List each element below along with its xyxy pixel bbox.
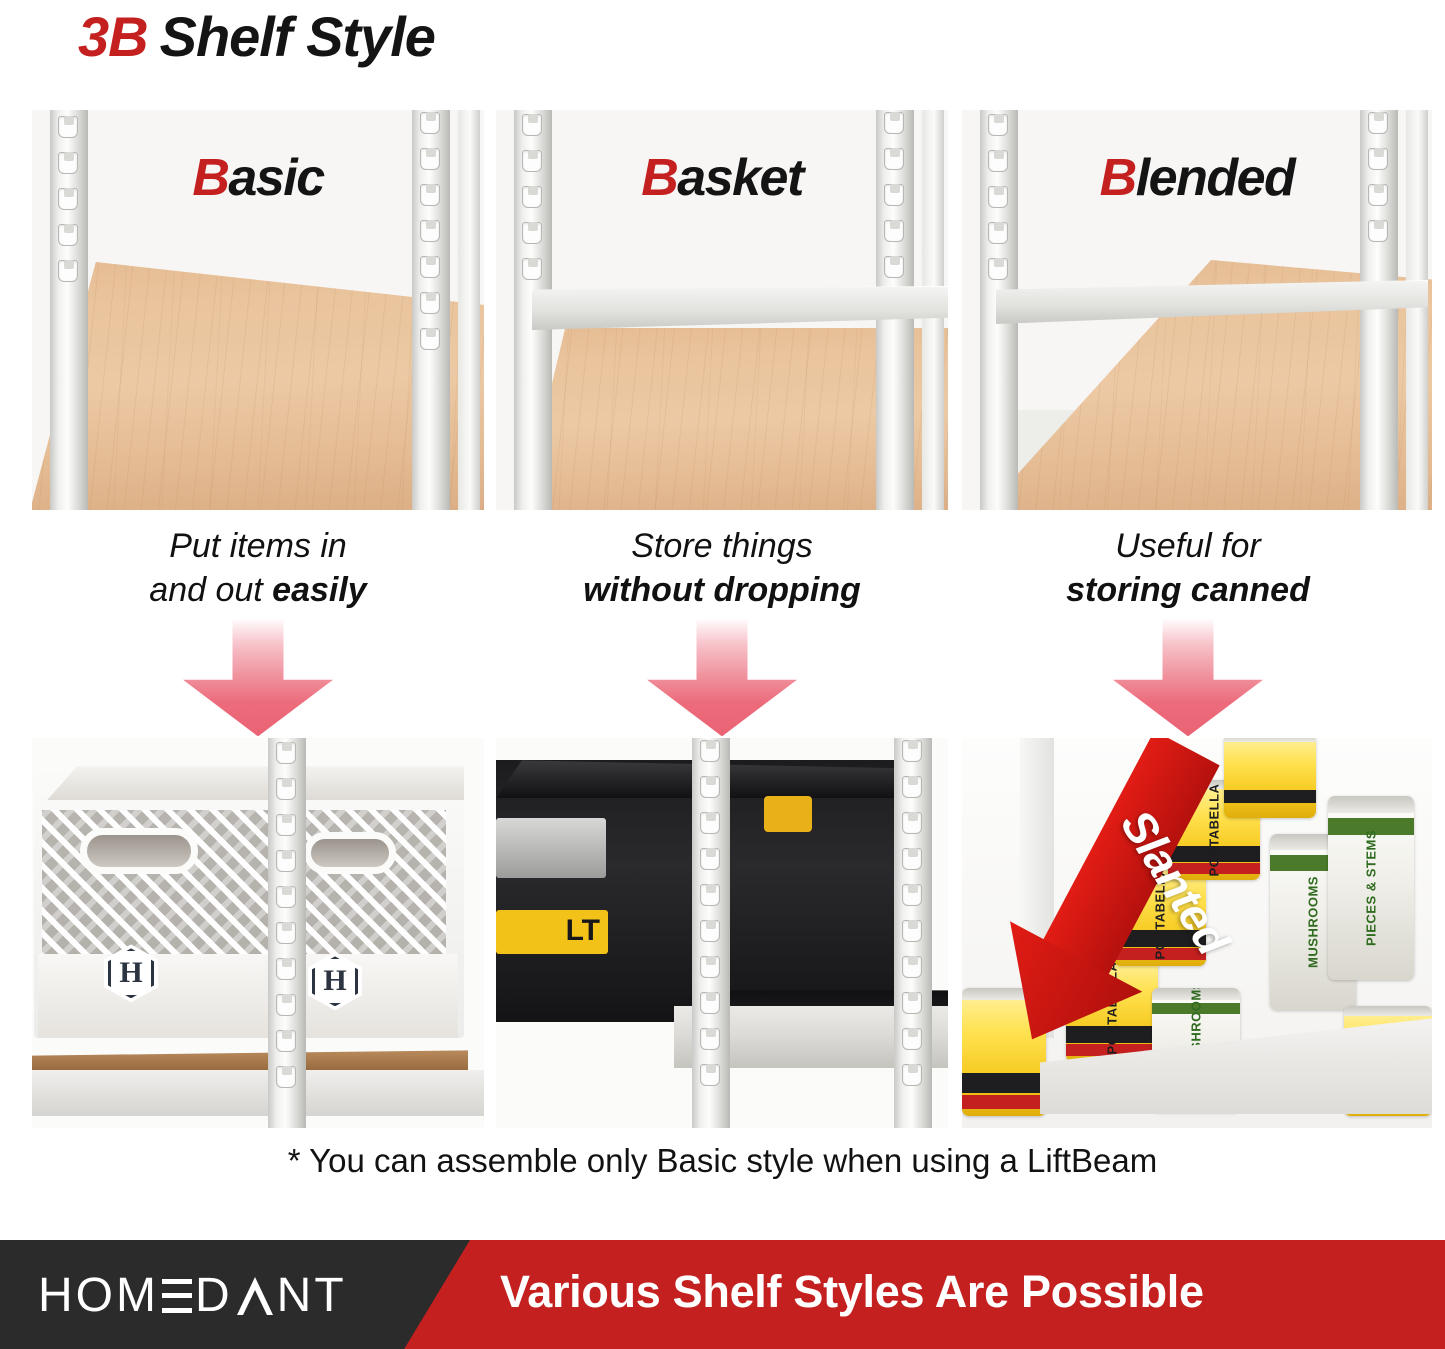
brand-logo: HOMDNT xyxy=(38,1268,347,1323)
shelf-post-center xyxy=(692,738,730,1128)
logo-text-part3: NT xyxy=(277,1268,347,1323)
page-title: 3BShelf Style xyxy=(78,4,435,69)
arrow-wrap-basket xyxy=(496,618,948,738)
panel-label-basket-black: asket xyxy=(677,149,803,207)
arrow-wrap-blended xyxy=(962,618,1414,738)
crate-handle-right xyxy=(304,832,396,874)
column-basket: Basket Store things w xyxy=(496,110,948,1128)
photo-blended-shelf: Blended xyxy=(962,110,1432,510)
panel-label-basket: Basket xyxy=(496,148,948,208)
panel-label-basket-red: B xyxy=(641,149,677,207)
down-arrow-icon xyxy=(647,618,797,736)
footer-tagline: Various Shelf Styles Are Possible xyxy=(500,1266,1204,1318)
caption-basic-line2: and out easily xyxy=(32,568,484,612)
page-title-red: 3B xyxy=(78,5,148,68)
photo-basket-shelf: Basket xyxy=(496,110,948,510)
logo-stylized-e-icon xyxy=(162,1277,192,1315)
logo-text-part1: HOM xyxy=(38,1268,159,1323)
panel-label-blended-black: lended xyxy=(1136,149,1295,207)
caption-basket-line2: without dropping xyxy=(496,568,948,612)
shelf-post-center xyxy=(268,738,306,1128)
caption-blended-line1: Useful for xyxy=(962,524,1414,568)
page-title-black: Shelf Style xyxy=(160,5,435,68)
caption-basic: Put items in and out easily xyxy=(32,524,484,612)
caption-blended: Useful for storing canned xyxy=(962,524,1414,612)
can-white-2: PIECES & STEMS xyxy=(1328,796,1414,980)
panel-label-basic: Basic xyxy=(32,148,484,208)
panel-label-basic-black: asic xyxy=(228,149,323,207)
down-arrow-icon xyxy=(183,618,333,736)
toolbox-brand-label: LT xyxy=(496,910,608,954)
panel-label-blended-red: B xyxy=(1100,149,1136,207)
footer-banner: HOMDNT Various Shelf Styles Are Possible xyxy=(0,1240,1445,1349)
panel-label-basic-red: B xyxy=(192,149,228,207)
photo-basic-shelf: Basic xyxy=(32,110,484,510)
shelf-post-far-right xyxy=(894,738,932,1128)
caption-basket-line1: Store things xyxy=(496,524,948,568)
panel-label-blended: Blended xyxy=(962,148,1432,208)
photo-toolbox-on-shelf: LT xyxy=(496,738,948,1128)
logo-text-part2: D xyxy=(195,1268,233,1323)
photo-crate-on-shelf: H H xyxy=(32,738,484,1128)
arrow-wrap-basic xyxy=(32,618,484,738)
crate-handle-left xyxy=(80,828,198,874)
toolbox-latch xyxy=(764,796,812,832)
milk-crate: H H xyxy=(34,766,464,1038)
column-basic: Basic Put items in xyxy=(32,110,484,1128)
logo-stylized-a-icon xyxy=(237,1277,273,1315)
infographic-page: 3BShelf Style Basic xyxy=(0,0,1445,1349)
caption-basket: Store things without dropping xyxy=(496,524,948,612)
footnote: * You can assemble only Basic style when… xyxy=(0,1142,1445,1180)
crate-base-panel xyxy=(38,954,458,1038)
column-blended: Blended Useful for storing can xyxy=(962,110,1414,1128)
caption-blended-line2: storing canned xyxy=(962,568,1414,612)
caption-basic-line1: Put items in xyxy=(32,524,484,568)
toolbox-metal-tray xyxy=(496,818,606,878)
down-arrow-icon xyxy=(1113,618,1263,736)
shelf-front-lip xyxy=(32,1070,484,1116)
crate-top-rim xyxy=(34,766,464,800)
